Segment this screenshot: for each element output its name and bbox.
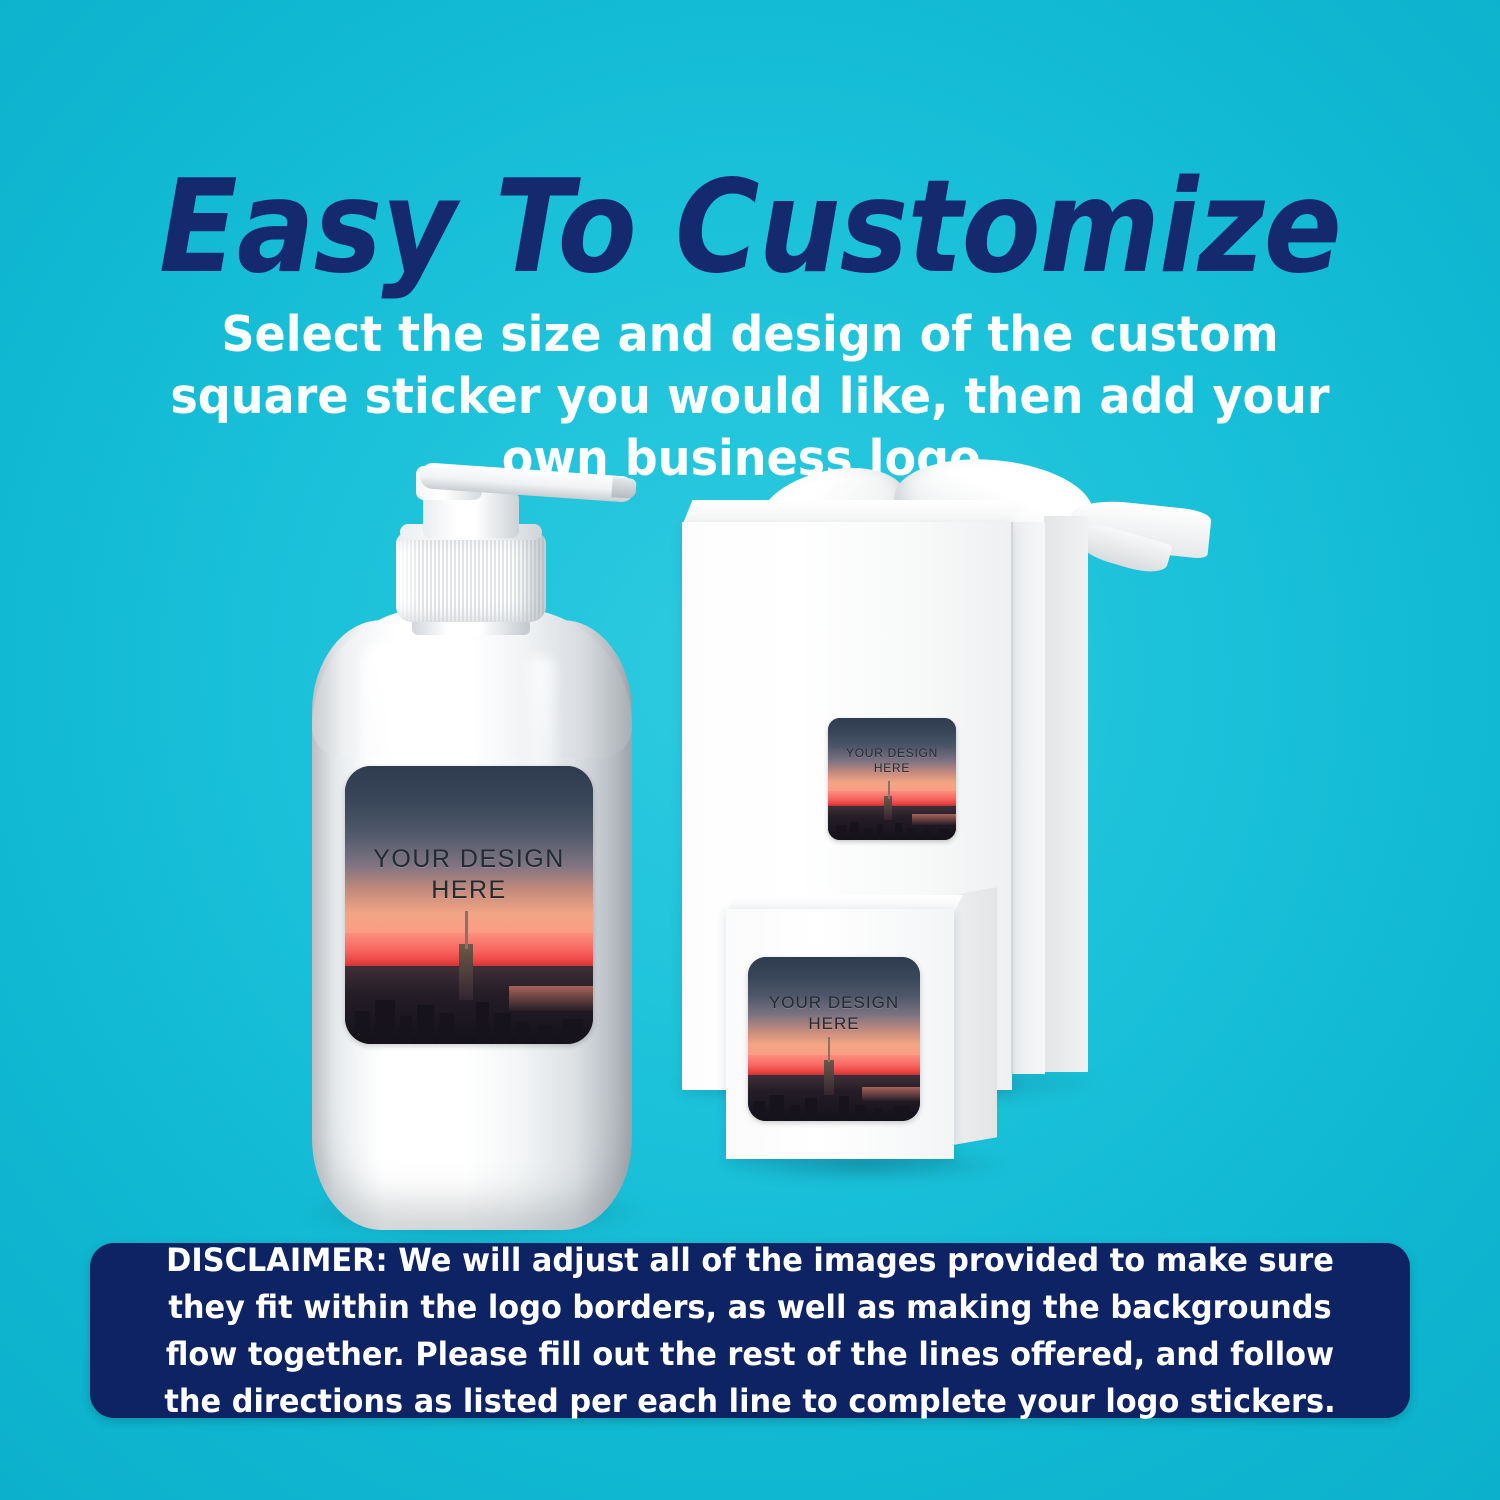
sticker-text-line1: YOUR DESIGN [828, 746, 956, 761]
window-box-sticker[interactable]: YOUR DESIGN HERE [748, 957, 920, 1121]
sticker-building [400, 1016, 412, 1044]
sticker-building [907, 828, 916, 840]
promo-banner: Easy To Customize Select the size and de… [0, 0, 1500, 1500]
sticker-text-line2: HERE [345, 875, 593, 906]
window-box-side [953, 887, 997, 1145]
sticker-building [839, 1096, 849, 1121]
sticker-building [850, 822, 859, 840]
sticker-text-line2: HERE [748, 1014, 920, 1035]
sticker-building [355, 1011, 370, 1044]
gift-box-sticker[interactable]: YOUR DESIGN HERE [828, 718, 956, 840]
sticker-text-line1: YOUR DESIGN [748, 993, 920, 1014]
sticker-building [864, 828, 873, 840]
sticker-spire [465, 911, 468, 950]
sticker-building [417, 1005, 434, 1044]
sticker-building [494, 1013, 511, 1044]
sticker-building [753, 1101, 765, 1121]
sticker-text: YOUR DESIGN HERE [748, 993, 920, 1034]
bottle-pump-collar [396, 532, 546, 622]
sticker-building [855, 1105, 867, 1121]
bottle-sticker-label[interactable]: YOUR DESIGN HERE [345, 766, 593, 1044]
sticker-building [789, 1105, 799, 1121]
bottle-pump-nozzle-tip [611, 477, 636, 499]
gift-box-lid-seam [1011, 522, 1013, 1074]
sticker-text-line1: YOUR DESIGN [345, 844, 593, 875]
disclaimer-box: DISCLAIMER: We will adjust all of the im… [90, 1243, 1410, 1418]
window-box-mockup: YOUR DESIGN HERE [712, 895, 1002, 1195]
sticker-building [836, 825, 846, 840]
sticker-river [509, 986, 593, 1011]
gift-box-side [1011, 522, 1045, 1074]
bottle-mockup: YOUR DESIGN HERE [290, 440, 660, 1230]
sticker-building [770, 1095, 784, 1121]
sticker-building [938, 829, 950, 840]
sticker-building [874, 1108, 883, 1121]
sticker-building [805, 1098, 817, 1121]
sticker-river [862, 1087, 920, 1102]
sticker-building [877, 824, 883, 840]
sticker-building [476, 1002, 488, 1044]
sticker-building [895, 823, 903, 840]
sticker-spire [828, 1037, 830, 1062]
sticker-empire-state-building [884, 796, 892, 820]
sticker-building [516, 1022, 528, 1044]
sticker-building [538, 1025, 553, 1044]
sticker-spire [888, 781, 890, 798]
sticker-river [912, 814, 956, 825]
sticker-building [923, 830, 931, 840]
sticker-building [375, 1000, 395, 1044]
sticker-text: YOUR DESIGN HERE [345, 844, 593, 905]
gift-box-back-side [1044, 516, 1088, 1072]
sticker-text: YOUR DESIGN HERE [828, 746, 956, 775]
disclaimer-text: DISCLAIMER: We will adjust all of the im… [155, 1237, 1344, 1425]
page-title: Easy To Customize [75, 164, 1425, 292]
sticker-building [563, 1019, 583, 1044]
sticker-empire-state-building [459, 944, 473, 1000]
sticker-building [894, 1106, 909, 1121]
sticker-text-line2: HERE [828, 761, 956, 776]
sticker-building [439, 1013, 454, 1044]
sticker-empire-state-building [824, 1060, 834, 1094]
